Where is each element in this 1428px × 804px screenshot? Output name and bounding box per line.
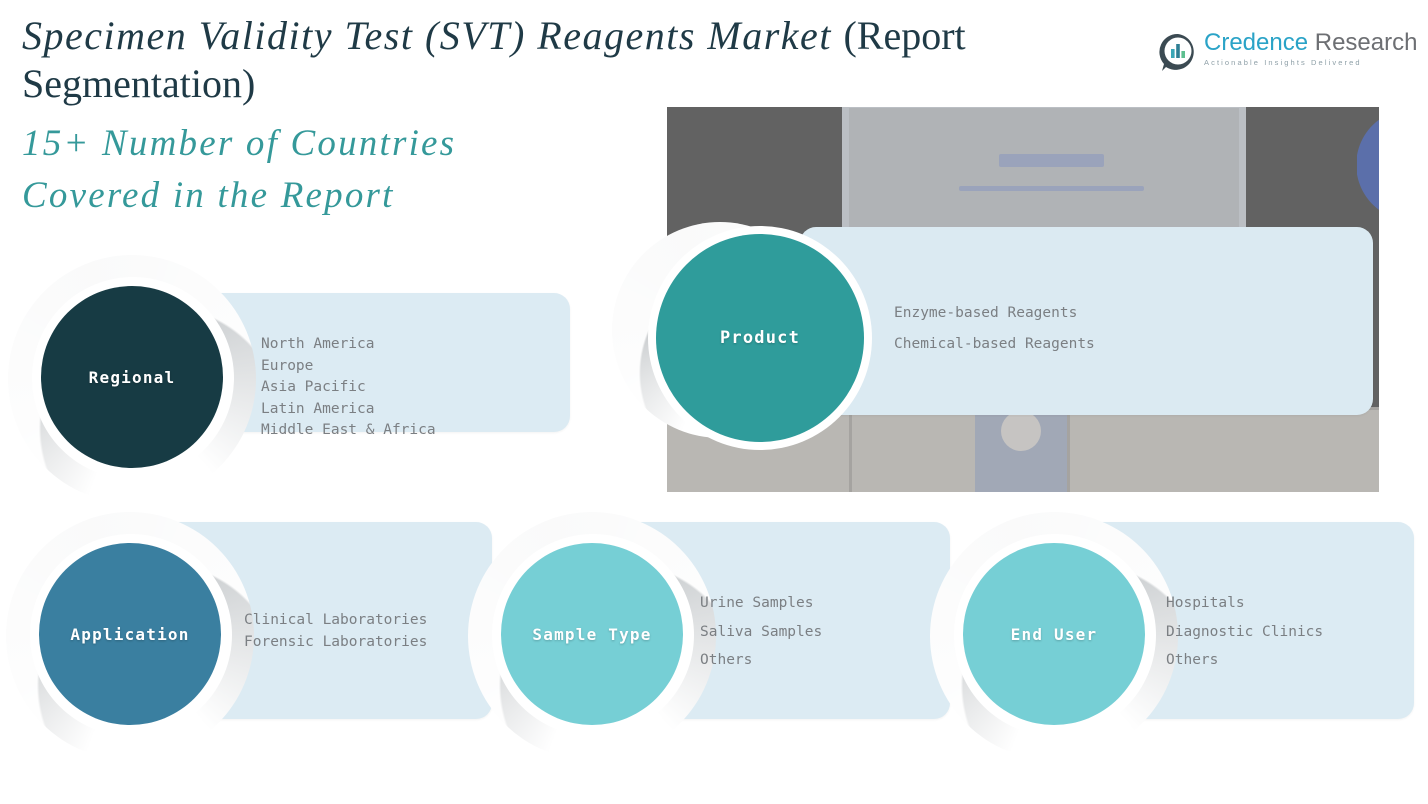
list-item: Chemical-based Reagents — [894, 329, 1095, 360]
segment-disc-application[interactable]: Application — [39, 543, 221, 725]
segment-card-application[interactable]: Application Clinical Laboratories Forens… — [6, 512, 506, 760]
segment-card-end-user[interactable]: End User Hospitals Diagnostic Clinics Ot… — [930, 512, 1428, 760]
segment-card-product[interactable]: Product Enzyme-based Reagents Chemical-b… — [612, 222, 1380, 450]
segment-items-product: Enzyme-based Reagents Chemical-based Rea… — [894, 298, 1095, 360]
list-item: Others — [1166, 646, 1323, 675]
list-item: Asia Pacific — [261, 377, 436, 399]
brand-name-secondary: Research — [1308, 29, 1417, 56]
list-item: Latin America — [261, 399, 436, 421]
segment-disc-end-user[interactable]: End User — [963, 543, 1145, 725]
list-item: Clinical Laboratories — [244, 609, 427, 631]
list-item: Diagnostic Clinics — [1166, 618, 1323, 647]
segment-disc-sample-type[interactable]: Sample Type — [501, 543, 683, 725]
list-item: Middle East & Africa — [261, 420, 436, 442]
page-title-italic: Specimen Validity Test (SVT) Reagents Ma… — [22, 13, 843, 58]
segment-disc-regional[interactable]: Regional — [41, 286, 223, 468]
segment-label-sample-type: Sample Type — [532, 625, 651, 644]
segment-items-sample-type: Urine Samples Saliva Samples Others — [700, 589, 822, 675]
list-item: Europe — [261, 356, 436, 378]
page-subtitle: 15+ Number of Countries Covered in the R… — [22, 118, 582, 222]
list-item: North America — [261, 334, 436, 356]
brand-logo-text: Credence Research Actionable Insights De… — [1204, 30, 1404, 68]
brand-name-primary: Credence — [1204, 29, 1308, 56]
brand-logo: Credence Research Actionable Insights De… — [1158, 30, 1403, 76]
list-item: Others — [700, 646, 822, 675]
list-item: Hospitals — [1166, 589, 1323, 618]
brand-name: Credence Research — [1204, 30, 1404, 56]
segment-label-product: Product — [720, 328, 800, 348]
segment-items-application: Clinical Laboratories Forensic Laborator… — [244, 609, 427, 653]
segment-items-regional: North America Europe Asia Pacific Latin … — [261, 334, 436, 442]
segment-label-regional: Regional — [89, 368, 176, 387]
chart-logo-icon — [1158, 32, 1198, 72]
list-item: Saliva Samples — [700, 618, 822, 647]
list-item: Forensic Laboratories — [244, 631, 427, 653]
list-item: Enzyme-based Reagents — [894, 298, 1095, 329]
segment-items-end-user: Hospitals Diagnostic Clinics Others — [1166, 589, 1323, 675]
list-item: Urine Samples — [700, 589, 822, 618]
segment-label-application: Application — [70, 625, 189, 644]
segment-label-end-user: End User — [1011, 625, 1098, 644]
segment-card-sample-type[interactable]: Sample Type Urine Samples Saliva Samples… — [468, 512, 968, 760]
segment-card-regional[interactable]: Regional North America Europe Asia Pacif… — [8, 255, 588, 503]
page-title: Specimen Validity Test (SVT) Reagents Ma… — [22, 12, 1142, 108]
brand-tagline: Actionable Insights Delivered — [1204, 57, 1404, 68]
infographic-canvas: Specimen Validity Test (SVT) Reagents Ma… — [0, 0, 1428, 804]
segment-disc-product[interactable]: Product — [656, 234, 864, 442]
